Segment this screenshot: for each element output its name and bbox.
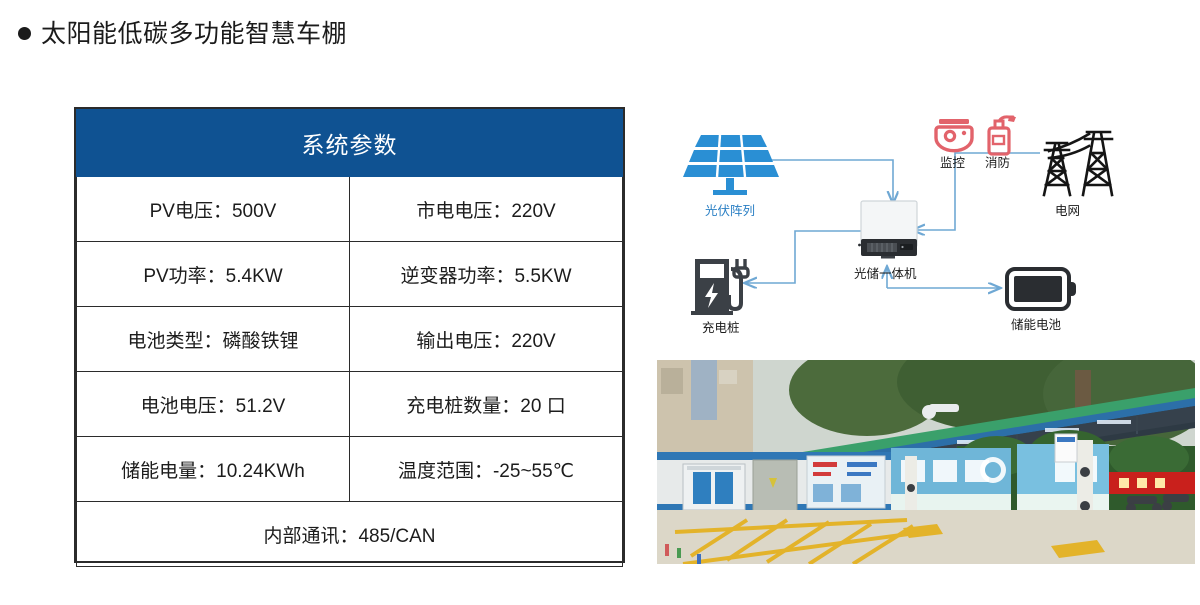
param-pv-power: PV功率：5.4KW [77, 242, 350, 307]
solar-panel-icon [683, 135, 779, 195]
table-header-title: 系统参数 [77, 110, 623, 177]
param-storage-capacity: 储能电量：10.24KWh [77, 437, 350, 502]
label-battery: 储能电池 [1011, 314, 1061, 333]
diagram-canvas [655, 105, 1195, 345]
slide-page: 太阳能低碳多功能智慧车棚 系统参数 PV电压：500V 市电电压：220V PV… [0, 0, 1200, 605]
inverter-cabinet-icon [858, 201, 917, 259]
power-tower-icon [1044, 132, 1112, 195]
arrow-grid-to-inverter [913, 153, 1040, 230]
ev-charging-pile-icon [691, 259, 748, 315]
fire-extinguisher-icon [989, 117, 1016, 154]
cctv-camera-icon [936, 119, 972, 151]
param-battery-voltage: 电池电压：51.2V [77, 372, 350, 437]
param-pv-voltage: PV电压：500V [77, 177, 350, 242]
param-output-voltage: 输出电压：220V [350, 307, 623, 372]
table-row: 电池类型：磷酸铁锂 输出电压：220V [77, 307, 623, 372]
arrow-inverter-to-charger [745, 231, 863, 283]
param-inverter-power: 逆变器功率：5.5KW [350, 242, 623, 307]
table-row: PV电压：500V 市电电压：220V [77, 177, 623, 242]
battery-icon [1007, 269, 1076, 309]
system-architecture-diagram: 光伏阵列 监控 消防 电网 光储一体机 充电桩 储能电池 [655, 105, 1195, 345]
label-monitor: 监控 [940, 152, 965, 171]
param-temperature-range: 温度范围：-25~55℃ [350, 437, 623, 502]
bullet-dot-icon [18, 27, 31, 40]
table-row: 电池电压：51.2V 充电桩数量：20 口 [77, 372, 623, 437]
param-internal-communication: 内部通讯：485/CAN [77, 502, 623, 567]
system-parameters-table: 系统参数 PV电压：500V 市电电压：220V PV功率：5.4KW 逆变器功… [74, 107, 625, 563]
table-header-row: 系统参数 [77, 110, 623, 177]
param-battery-type: 电池类型：磷酸铁锂 [77, 307, 350, 372]
label-fire: 消防 [985, 152, 1010, 171]
table-row: PV功率：5.4KW 逆变器功率：5.5KW [77, 242, 623, 307]
solar-carport-photo [657, 360, 1195, 564]
page-title-text: 太阳能低碳多功能智慧车棚 [41, 14, 347, 50]
label-inverter: 光储一体机 [854, 263, 917, 282]
photo-image [657, 360, 1195, 564]
param-charger-count: 充电桩数量：20 口 [350, 372, 623, 437]
label-grid: 电网 [1055, 200, 1080, 219]
table-row: 储能电量：10.24KWh 温度范围：-25~55℃ [77, 437, 623, 502]
label-charger: 充电桩 [702, 317, 740, 336]
param-grid-voltage: 市电电压：220V [350, 177, 623, 242]
label-pv-array: 光伏阵列 [705, 200, 755, 219]
table-row: 内部通讯：485/CAN [77, 502, 623, 567]
page-title: 太阳能低碳多功能智慧车棚 [18, 14, 347, 50]
